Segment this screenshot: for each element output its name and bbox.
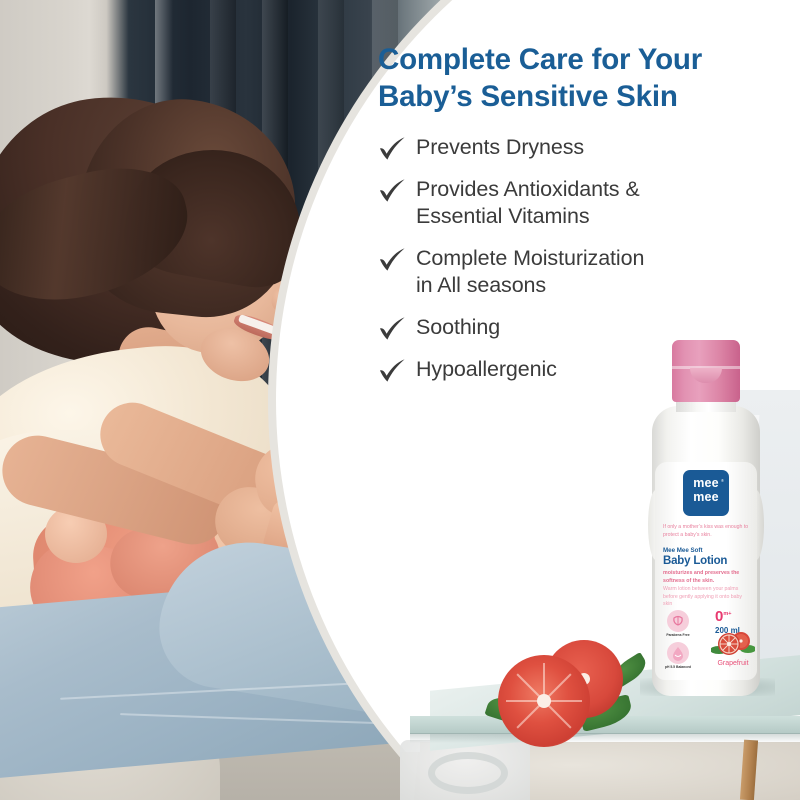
baby-tub-rim bbox=[428, 752, 508, 794]
check-icon bbox=[378, 314, 416, 342]
label-grapefruit-icon bbox=[711, 630, 755, 660]
label-age-badge: 0m+ bbox=[715, 609, 731, 624]
list-item: Hypoallergenic bbox=[378, 356, 778, 384]
parabens-free-label: Parabens Free bbox=[658, 633, 698, 637]
label-product-name: Baby Lotion bbox=[663, 555, 727, 567]
brand-logo: meemee ® bbox=[683, 470, 729, 516]
check-icon bbox=[378, 245, 416, 273]
list-item-label: Provides Antioxidants & Essential Vitami… bbox=[416, 176, 640, 231]
headline-line-1: Complete Care for Your bbox=[378, 43, 702, 76]
ph-balanced-icon bbox=[667, 642, 689, 664]
label-description: moisturizes and preserves the softness o… bbox=[663, 570, 753, 585]
list-item-label: Hypoallergenic bbox=[416, 356, 557, 384]
benefit-list: Prevents Dryness Provides Antioxidants &… bbox=[378, 134, 778, 384]
check-icon bbox=[378, 176, 416, 204]
brand-trademark: ® bbox=[721, 478, 724, 483]
check-icon bbox=[378, 356, 416, 384]
label-usage: Warm lotion between your palms before ge… bbox=[663, 586, 751, 609]
list-item: Prevents Dryness bbox=[378, 134, 778, 162]
page-title: Complete Care for Your Baby’s Sensitive … bbox=[378, 42, 778, 116]
product-label: meemee ® If only a mother’s kiss was eno… bbox=[655, 462, 757, 680]
label-flavor: Grapefruit bbox=[707, 660, 759, 667]
parabens-free-icon bbox=[667, 610, 689, 632]
ph-balanced-label: pH 5.5 Balanced bbox=[658, 665, 698, 669]
list-item-label: Prevents Dryness bbox=[416, 134, 584, 162]
product-banner: meemee ® If only a mother’s kiss was eno… bbox=[0, 0, 800, 800]
table-shadow bbox=[410, 733, 800, 743]
grapefruit-half bbox=[498, 655, 590, 747]
list-item-label: Complete Moisturization in All seasons bbox=[416, 245, 644, 300]
list-item: Soothing bbox=[378, 314, 778, 342]
list-item-label: Soothing bbox=[416, 314, 500, 342]
label-name-prefix: Mee Mee Soft bbox=[663, 547, 703, 554]
list-item: Complete Moisturization in All seasons bbox=[378, 245, 778, 300]
list-item: Provides Antioxidants & Essential Vitami… bbox=[378, 176, 778, 231]
check-icon bbox=[378, 134, 416, 162]
marketing-copy: Complete Care for Your Baby’s Sensitive … bbox=[378, 42, 778, 398]
label-tagline: If only a mother’s kiss was enough to pr… bbox=[663, 524, 749, 540]
brand-logo-line1: mee bbox=[693, 476, 719, 490]
brand-logo-line2: mee bbox=[693, 490, 719, 504]
headline-line-2: Baby’s Sensitive Skin bbox=[378, 80, 678, 113]
label-age-unit: m+ bbox=[723, 611, 731, 617]
